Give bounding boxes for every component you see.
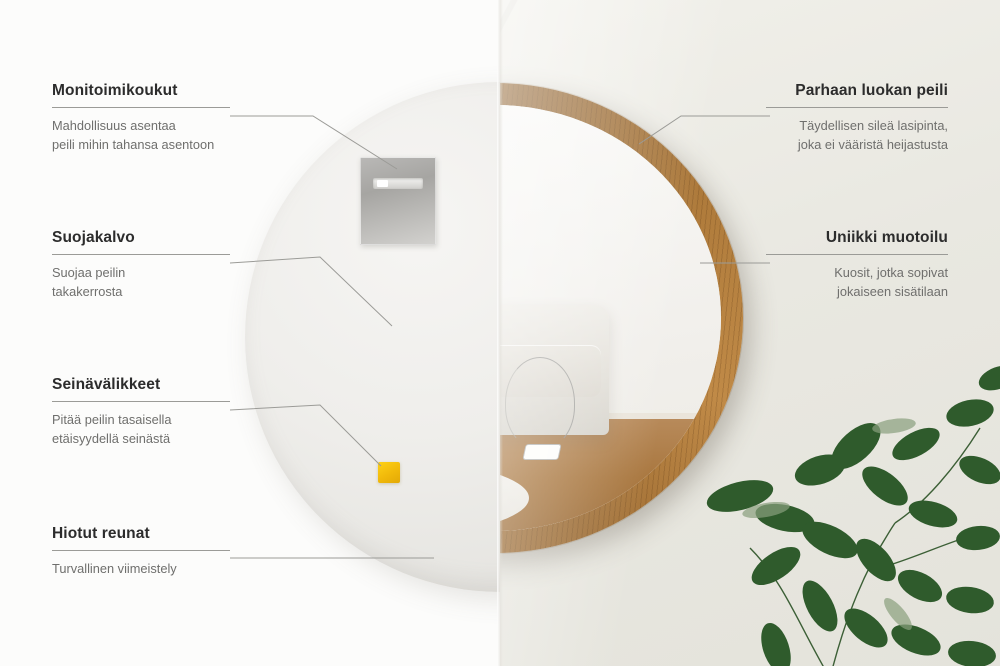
callout-title: Parhaan luokan peili bbox=[766, 82, 948, 100]
callout-uniikki-muotoilu: Uniikki muotoilu Kuosit, jotka sopivat j… bbox=[766, 229, 948, 301]
callout-title: Hiotut reunat bbox=[52, 525, 230, 543]
panel-seam bbox=[497, 0, 503, 666]
callout-rule bbox=[52, 254, 230, 255]
mirror-product bbox=[500, 83, 743, 553]
mounting-hook-icon bbox=[360, 157, 436, 245]
callout-title: Monitoimikoukut bbox=[52, 82, 230, 100]
hook-slot bbox=[373, 178, 423, 189]
callout-rule bbox=[766, 254, 948, 255]
callout-seinavalikkeet: Seinävälikkeet Pitää peilin tasaisella e… bbox=[52, 376, 230, 448]
callout-title: Suojakalvo bbox=[52, 229, 230, 247]
callout-desc: Turvallinen viimeistely bbox=[52, 560, 230, 579]
callout-desc: Pitää peilin tasaisella etäisyydellä sei… bbox=[52, 411, 230, 448]
callout-title: Seinävälikkeet bbox=[52, 376, 230, 394]
callout-rule bbox=[766, 107, 948, 108]
callout-suojakalvo: Suojakalvo Suojaa peilin takakerrosta bbox=[52, 229, 230, 301]
callout-rule bbox=[52, 550, 230, 551]
callout-rule bbox=[52, 401, 230, 402]
feature-diagram-stage: Monitoimikoukut Mahdollisuus asentaa pei… bbox=[0, 0, 1000, 666]
callout-desc: Suojaa peilin takakerrosta bbox=[52, 264, 230, 301]
callout-desc: Täydellisen sileä lasipinta, joka ei vää… bbox=[766, 117, 948, 154]
mirror-glass-surface bbox=[500, 105, 721, 531]
callout-hiotut-reunat: Hiotut reunat Turvallinen viimeistely bbox=[52, 525, 230, 579]
callout-desc: Mahdollisuus asentaa peili mihin tahansa… bbox=[52, 117, 230, 154]
wall-spacer-icon bbox=[378, 462, 400, 483]
callout-rule bbox=[52, 107, 230, 108]
callout-monitoimikoukut: Monitoimikoukut Mahdollisuus asentaa pei… bbox=[52, 82, 230, 154]
callout-desc: Kuosit, jotka sopivat jokaiseen sisätila… bbox=[766, 264, 948, 301]
reflection-floor-lamp bbox=[505, 357, 575, 449]
callout-title: Uniikki muotoilu bbox=[766, 229, 948, 247]
callout-parhaan-luokan-peili: Parhaan luokan peili Täydellisen sileä l… bbox=[766, 82, 948, 154]
